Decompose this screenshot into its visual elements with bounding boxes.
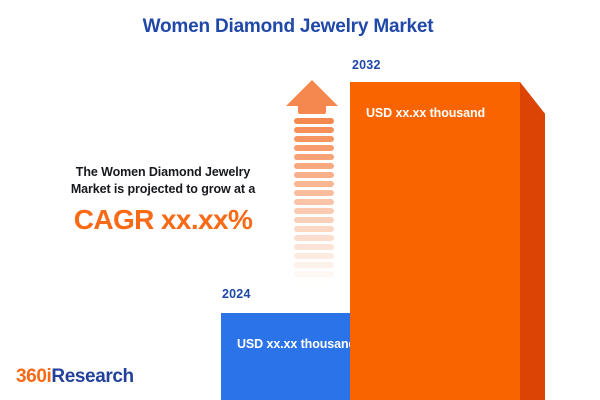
arrow-head-icon [286,80,338,106]
arrow-stripe [294,289,334,295]
arrow-stripe [294,235,334,241]
arrow-stripe [294,208,334,214]
logo-suffix: Research [51,366,133,387]
caption-line-2: Market is projected to grow at a [22,181,304,198]
arrow-stripe [294,226,334,232]
caption-line-1: The Women Diamond Jewelry [22,164,304,181]
page-title: Women Diamond Jewelry Market [0,16,576,38]
arrow-stripe [294,136,334,142]
arrow-stripe [294,253,334,259]
arrow-stripe [294,280,334,286]
brand-logo: 360iResearch [16,366,134,388]
arrow-neck-icon [298,105,326,114]
arrow-stripe [294,118,334,124]
year-label-2024: 2024 [222,287,251,301]
arrow-stripe [294,181,334,187]
arrow-stripe [294,199,334,205]
arrow-stripe [294,217,334,223]
arrow-stripe [294,271,334,277]
growth-arrow-icon [286,80,338,290]
arrow-stripe [294,172,334,178]
bar-2032: USD xx.xx thousand [350,82,520,400]
bar-2032-side-face [520,82,545,400]
arrow-stripes [294,118,334,290]
bar-2032-front-face: USD xx.xx thousand [350,82,520,400]
year-label-2032: 2032 [352,58,381,72]
arrow-stripe [294,127,334,133]
cagr-value: CAGR xx.xx% [22,204,304,236]
logo-prefix: 360i [16,366,51,387]
arrow-stripe [294,145,334,151]
arrow-stripe [294,154,334,160]
arrow-stripe [294,244,334,250]
bar-2032-value-label: USD xx.xx thousand [366,106,485,120]
caption-block: The Women Diamond Jewelry Market is proj… [22,164,304,236]
arrow-stripe [294,262,334,268]
arrow-stripe [294,163,334,169]
bar-2024-value-label: USD xx.xx thousand [237,337,356,351]
arrow-stripe [294,190,334,196]
market-infographic: Women Diamond Jewelry Market The Women D… [0,0,600,400]
